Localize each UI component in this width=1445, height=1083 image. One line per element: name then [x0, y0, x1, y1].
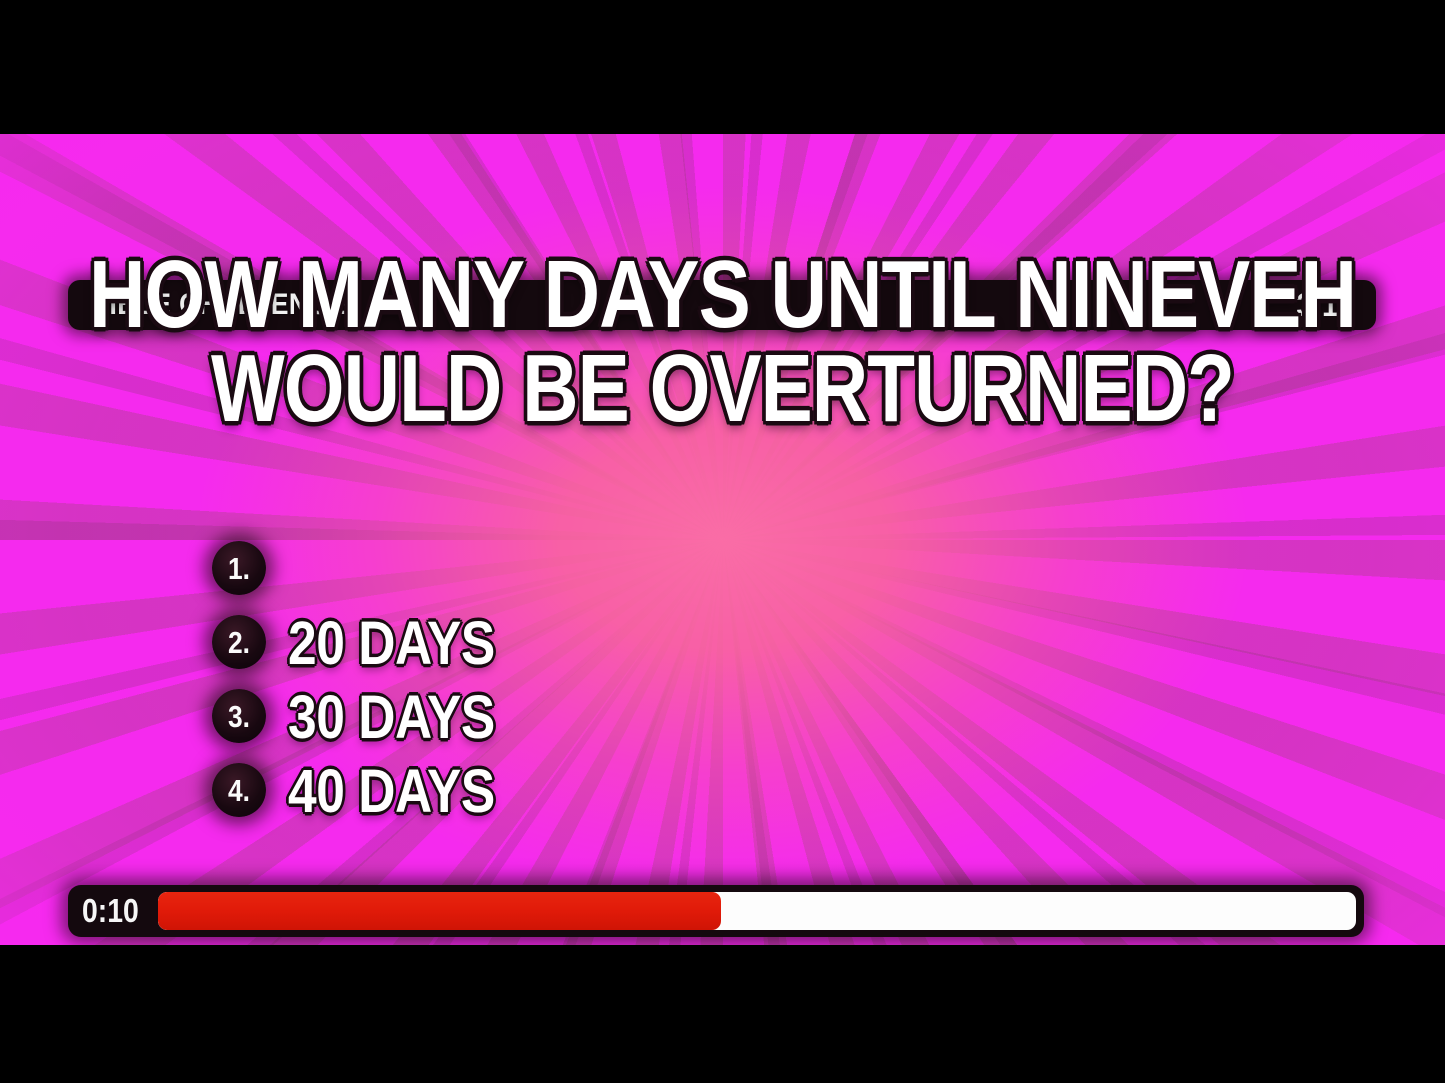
countdown-bar: 0:10: [68, 885, 1364, 937]
option-number-1: 1.: [228, 553, 250, 584]
countdown-time-remaining: 0:10: [82, 892, 147, 930]
answer-option-4[interactable]: 4. 40 DAYS: [212, 754, 513, 826]
video-screenshot: BIBLE CHALLENGE 3:14 HOW MANY DAYS UNTIL…: [0, 0, 1445, 1083]
option-number-badge-1: 1.: [212, 541, 266, 595]
answer-option-1[interactable]: 1.: [212, 532, 513, 604]
answer-options-list: 1. 2. 20 DAYS 3. 30 DAYS 4. 4: [212, 532, 513, 828]
video-content-area: BIBLE CHALLENGE 3:14 HOW MANY DAYS UNTIL…: [0, 134, 1445, 945]
option-label-3: 30 DAYS: [288, 680, 495, 752]
question-text: HOW MANY DAYS UNTIL NINEVEH WOULD BE OVE…: [0, 248, 1445, 436]
option-label-2: 20 DAYS: [288, 606, 495, 678]
option-number-badge-2: 2.: [212, 615, 266, 669]
option-number-3: 3.: [228, 701, 250, 732]
option-number-badge-4: 4.: [212, 763, 266, 817]
countdown-progress-fill: [158, 892, 721, 930]
option-number-2: 2.: [228, 627, 250, 658]
option-number-4: 4.: [228, 775, 250, 806]
question-line-2: WOULD BE OVERTURNED?: [51, 335, 1395, 442]
answer-option-3[interactable]: 3. 30 DAYS: [212, 680, 513, 752]
question-line-1: HOW MANY DAYS UNTIL NINEVEH: [51, 241, 1395, 348]
option-number-badge-3: 3.: [212, 689, 266, 743]
option-label-4: 40 DAYS: [288, 754, 495, 826]
answer-option-2[interactable]: 2. 20 DAYS: [212, 606, 513, 678]
countdown-progress-track: [158, 892, 1356, 930]
